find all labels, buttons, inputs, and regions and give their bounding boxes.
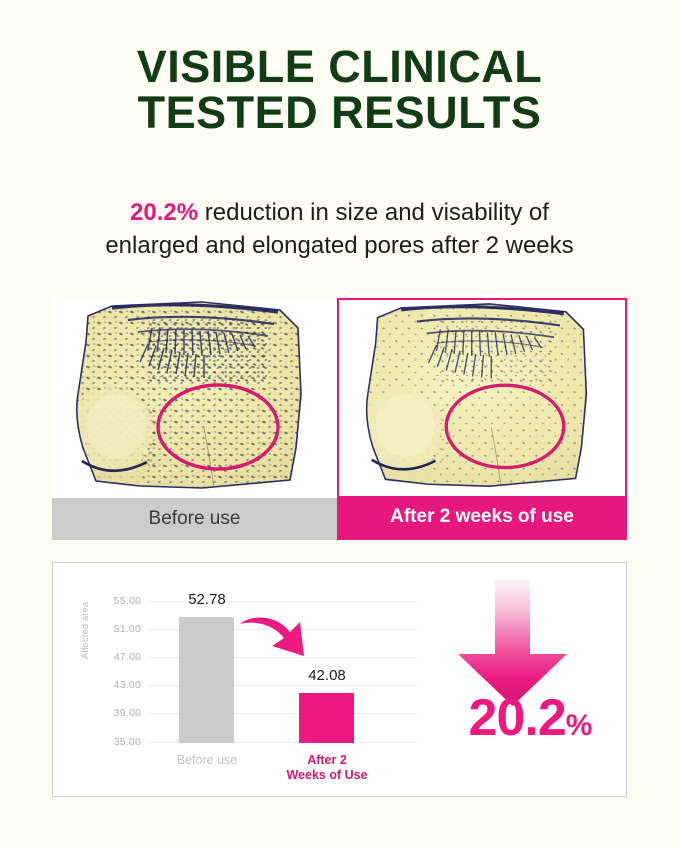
after-caption: After 2 weeks of use (339, 496, 625, 538)
before-panel: Before use (52, 298, 337, 540)
x-label-after-line2: Weeks of Use (286, 768, 367, 782)
headline-line-1: VISIBLE CLINICAL (137, 41, 543, 92)
before-skin-image (52, 298, 337, 498)
x-label-before-use: Before use (161, 753, 253, 768)
after-caption-label: After 2 weeks of use (390, 506, 574, 528)
curved-down-right-arrow-icon (238, 608, 314, 669)
skin-render-before (52, 298, 337, 498)
bar-value-after: 42.08 (289, 667, 365, 684)
chart-y-axis-label: Affected area (80, 602, 90, 659)
subtitle-text: reduction in size and visability of (198, 199, 549, 226)
x-label-after-2-weeks: After 2 Weeks of Use (281, 753, 373, 784)
subtitle-percent: 20.2% (130, 199, 198, 226)
before-caption-label: Before use (149, 508, 241, 530)
y-tick-label: 51.00 (95, 623, 141, 635)
y-tick-label: 39.00 (95, 707, 141, 719)
skin-render-after (339, 300, 625, 496)
y-tick-label: 47.00 (95, 651, 141, 663)
subtitle: 20.2% reduction in size and visability o… (40, 196, 639, 262)
after-panel: After 2 weeks of use (337, 298, 627, 540)
bar-before-use (179, 617, 234, 743)
infographic-page: VISIBLE CLINICAL TESTED RESULTS 20.2% re… (0, 0, 679, 849)
bar-after-2-weeks (299, 693, 354, 743)
y-tick-label: 55.00 (95, 595, 141, 607)
page-title: VISIBLE CLINICAL TESTED RESULTS (0, 44, 679, 137)
before-after-comparison: Before use (52, 298, 627, 540)
reduction-percent-callout: 20.2% (430, 692, 630, 744)
reduction-percent-value: 20.2 (469, 689, 566, 747)
before-caption: Before use (52, 498, 337, 540)
y-tick-label: 43.00 (95, 679, 141, 691)
subtitle-line-2: enlarged and elongated pores after 2 wee… (105, 232, 573, 259)
headline-line-2: TESTED RESULTS (0, 90, 679, 136)
bar-value-before: 52.78 (169, 591, 245, 608)
x-label-after-line1: After 2 (307, 753, 347, 767)
after-skin-image (339, 300, 625, 496)
reduction-percent-symbol: % (566, 709, 592, 742)
y-tick-label: 35.00 (95, 736, 141, 748)
